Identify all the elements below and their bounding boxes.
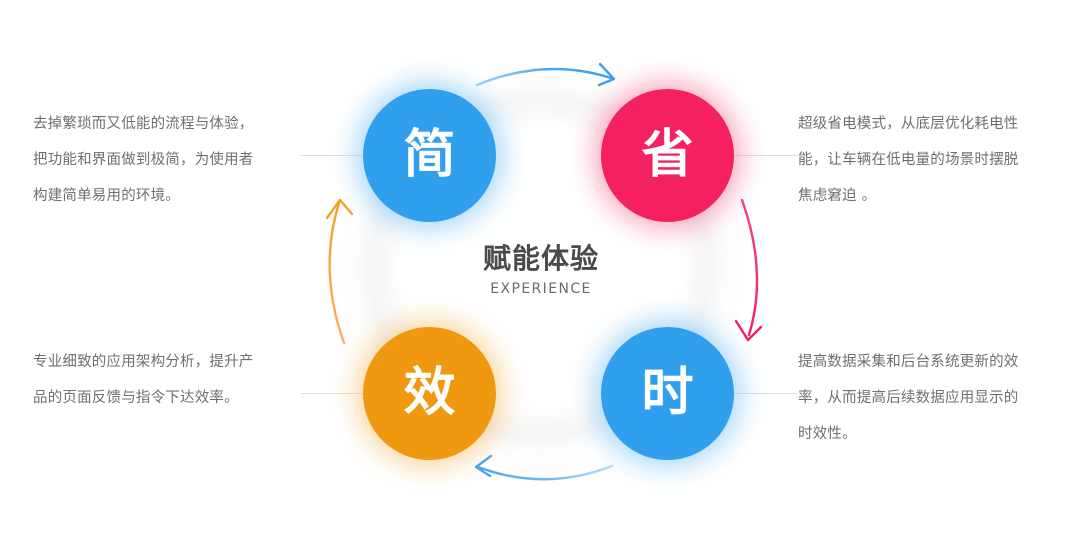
center-title-group: 赋能体验 EXPERIENCE <box>391 245 691 296</box>
arrow-right-pink <box>736 200 761 340</box>
description-top-right: 超级省电模式，从底层优化耗电性 能，让车辆在低电量的场景时摆脱 焦虑窘迫 。 <box>798 106 1060 214</box>
diagram-canvas: 简 省 效 时 赋能体验 EXPERIENCE 去掉繁琐而又低能的流程与体验， … <box>0 0 1082 548</box>
description-bottom-right-line2: 率，从而提高后续数据应用显示的 <box>798 380 1060 416</box>
description-top-left-line1: 去掉繁琐而又低能的流程与体验， <box>33 106 295 142</box>
description-bottom-right: 提高数据采集和后台系统更新的效 率，从而提高后续数据应用显示的 时效性。 <box>798 344 1060 452</box>
connector-line-top-right <box>726 155 798 156</box>
center-title-en: EXPERIENCE <box>391 282 691 296</box>
description-bottom-left: 专业细致的应用架构分析，提升产 品的页面反馈与指令下达效率。 <box>33 344 295 416</box>
node-sheng[interactable]: 省 <box>601 89 734 222</box>
description-top-right-line2: 能，让车辆在低电量的场景时摆脱 <box>798 142 1060 178</box>
node-shi[interactable]: 时 <box>601 327 734 460</box>
arrow-bottom-blue <box>476 456 612 479</box>
node-jian[interactable]: 简 <box>363 89 496 222</box>
node-jian-label: 简 <box>403 129 455 181</box>
node-sheng-label: 省 <box>641 129 693 181</box>
arrow-top-blue <box>477 64 614 85</box>
node-shi-label: 时 <box>641 367 693 419</box>
description-top-left-line2: 把功能和界面做到极简，为使用者 <box>33 142 295 178</box>
node-xiao-label: 效 <box>403 367 455 419</box>
description-bottom-right-line3: 时效性。 <box>798 416 1060 452</box>
description-bottom-left-line2: 品的页面反馈与指令下达效率。 <box>33 380 295 416</box>
description-bottom-right-line1: 提高数据采集和后台系统更新的效 <box>798 344 1060 380</box>
description-bottom-left-line1: 专业细致的应用架构分析，提升产 <box>33 344 295 380</box>
description-top-left-line3: 构建简单易用的环境。 <box>33 178 295 214</box>
center-title-cn: 赋能体验 <box>391 245 691 273</box>
description-top-right-line3: 焦虑窘迫 。 <box>798 178 1060 214</box>
description-top-right-line1: 超级省电模式，从底层优化耗电性 <box>798 106 1060 142</box>
node-xiao[interactable]: 效 <box>363 327 496 460</box>
description-top-left: 去掉繁琐而又低能的流程与体验， 把功能和界面做到极简，为使用者 构建简单易用的环… <box>33 106 295 214</box>
connector-line-bottom-right <box>726 393 798 394</box>
arrow-left-orange <box>327 200 352 343</box>
